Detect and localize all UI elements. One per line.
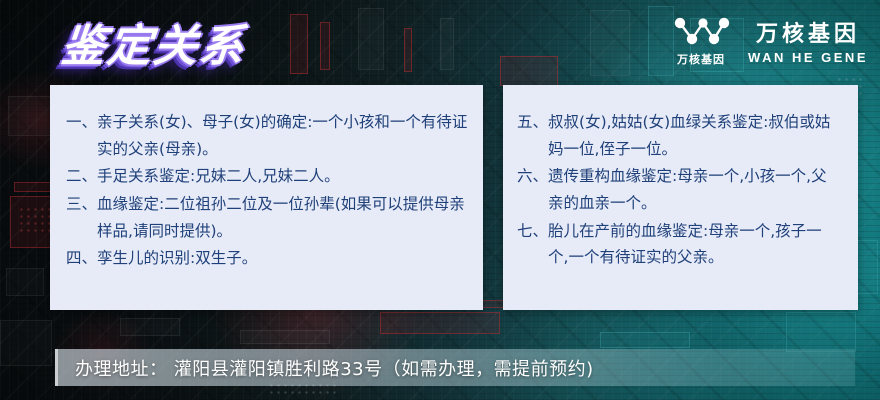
brand-name-en: WAN HE GENE [748,50,868,65]
list-item-text: 胎儿在产前的血缘鉴定:母亲一个,孩子一个,一个有待证实的父亲。 [548,218,842,271]
banner-stage: 鉴定关系 万核基因 [0,0,880,400]
list-item-text: 叔叔(女),姑姑(女)血绿关系鉴定:叔伯或姑妈一位,侄子一位。 [548,109,842,162]
list-item-number: 六、 [517,163,548,216]
list-item: 五、 叔叔(女),姑姑(女)血绿关系鉴定:叔伯或姑妈一位,侄子一位。 [517,109,842,162]
banner-header: 鉴定关系 万核基因 [0,0,880,85]
list-item: 一、 亲子关系(女)、母子(女)的确定:一个小孩和一个有待证实的父亲(母亲)。 [66,109,469,162]
list-item: 七、 胎儿在产前的血缘鉴定:母亲一个,孩子一个,一个有待证实的父亲。 [517,218,842,271]
relationship-list-left: 一、 亲子关系(女)、母子(女)的确定:一个小孩和一个有待证实的父亲(母亲)。 … [50,85,483,272]
list-item-number: 一、 [66,109,97,162]
address-text: 办理地址： 灌阳县灌阳镇胜利路33号（如需办理，需提前预约) [55,355,594,381]
list-item: 六、 遗传重构血缘鉴定:母亲一个,小孩一个,父亲的血亲一个。 [517,163,842,216]
address-bar: 办理地址： 灌阳县灌阳镇胜利路33号（如需办理，需提前预约) [55,349,855,386]
brand-mark: 万核基因 [670,14,732,67]
list-item-text: 遗传重构血缘鉴定:母亲一个,小孩一个,父亲的血亲一个。 [548,163,842,216]
brand-logo: 万核基因 万核基因 WAN HE GENE [670,14,868,67]
list-item-text: 手足关系鉴定:兄妹二人,兄妹二人。 [97,163,469,190]
list-item-text: 孪生儿的识别:双生子。 [97,245,469,272]
brand-name-cn: 万核基因 [756,16,860,48]
relationship-list-right: 五、 叔叔(女),姑姑(女)血绿关系鉴定:叔伯或姑妈一位,侄子一位。 六、 遗传… [503,85,858,271]
list-item: 三、 血缘鉴定:二位祖孙二位及一位孙辈(如果可以提供母亲样品,请同时提供)。 [66,191,469,244]
list-item-number: 三、 [66,191,97,244]
brand-mark-label: 万核基因 [677,51,725,67]
list-item-number: 二、 [66,163,97,190]
list-item-text: 血缘鉴定:二位祖孙二位及一位孙辈(如果可以提供母亲样品,请同时提供)。 [97,191,469,244]
info-panel-left: 一、 亲子关系(女)、母子(女)的确定:一个小孩和一个有待证实的父亲(母亲)。 … [50,85,483,310]
list-item: 四、 孪生儿的识别:双生子。 [66,245,469,272]
list-item-number: 四、 [66,245,97,272]
info-panel-right: 五、 叔叔(女),姑姑(女)血绿关系鉴定:叔伯或姑妈一位,侄子一位。 六、 遗传… [503,85,858,310]
list-item-number: 七、 [517,218,548,271]
molecule-icon [670,14,732,48]
list-item-text: 亲子关系(女)、母子(女)的确定:一个小孩和一个有待证实的父亲(母亲)。 [97,109,469,162]
list-item: 二、 手足关系鉴定:兄妹二人,兄妹二人。 [66,163,469,190]
list-item-number: 五、 [517,109,548,162]
page-title: 鉴定关系 [59,10,250,74]
brand-wordmark: 万核基因 WAN HE GENE [748,16,868,65]
